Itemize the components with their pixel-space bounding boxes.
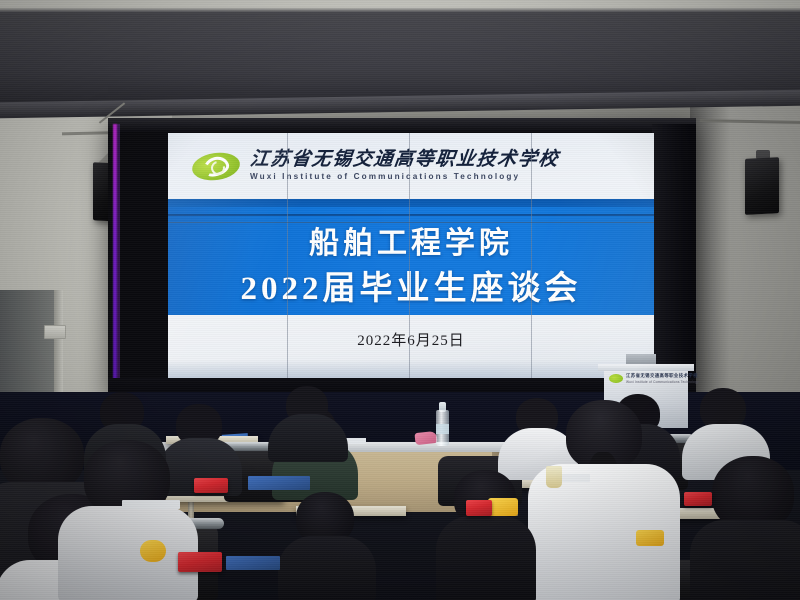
red-pencil-case [194,478,228,493]
band-inner-rule [168,214,654,216]
front-desk-pink-item [414,431,437,445]
red-pencil-case [178,552,222,572]
water-bottle [436,402,449,446]
red-pencil-case [684,492,712,506]
video-wall-right-bezel [652,124,696,400]
slide-date: 2022年6月25日 [168,329,654,350]
panel-seam-2 [409,133,410,378]
blue-folder [248,476,310,490]
slide-title-line1: 船舶工程学院 [168,218,654,262]
podium-label-cn: 江苏省无锡交通高等职业技术学校 [626,373,699,380]
ceiling-soffit [0,0,800,104]
wall-speaker-right [745,157,779,215]
podium-top [598,364,694,371]
yellow-item [140,540,166,562]
video-wall-top-bezel [108,118,696,132]
yellow-item [488,498,518,516]
yellow-item [636,530,664,546]
slide-title-band: 船舶工程学院 2022届毕业生座谈会 [168,199,654,315]
podium-label: 江苏省无锡交通高等职业技术学校 Wuxi Institute of Commun… [626,373,699,384]
school-logo-icon [192,153,240,180]
school-name-block: 江苏省无锡交通高等职业技术学校 Wuxi Institute of Commun… [250,150,559,181]
panel-seam-horizontal [168,222,654,223]
slide-title-line2: 2022届毕业生座谈会 [168,261,654,309]
podium-label-en: Wuxi Institute of Communications Technol… [626,380,699,385]
slide-header: 江苏省无锡交通高等职业技术学校 Wuxi Institute of Commun… [168,133,654,199]
school-name-cn: 江苏省无锡交通高等职业技术学校 [249,150,560,169]
wall-switch[interactable] [44,325,66,339]
video-wall-edge-glow [117,124,120,392]
panel-seam-3 [531,133,532,378]
lecture-hall-photo: 江苏省无锡交通高等职业技术学校 Wuxi Institute of Commun… [0,0,800,600]
red-pencil-case [466,500,492,516]
slide-footer-gradient [168,360,654,378]
blue-folder [226,556,280,570]
podium-logo-icon [609,374,623,383]
presentation-slide: 江苏省无锡交通高等职业技术学校 Wuxi Institute of Commun… [168,133,654,378]
panel-seam-1 [287,133,288,378]
school-name-en: Wuxi Institute of Communications Technol… [250,173,559,181]
white-paper [122,500,180,509]
drink-cup [546,466,562,488]
band-top-edge [168,199,654,207]
